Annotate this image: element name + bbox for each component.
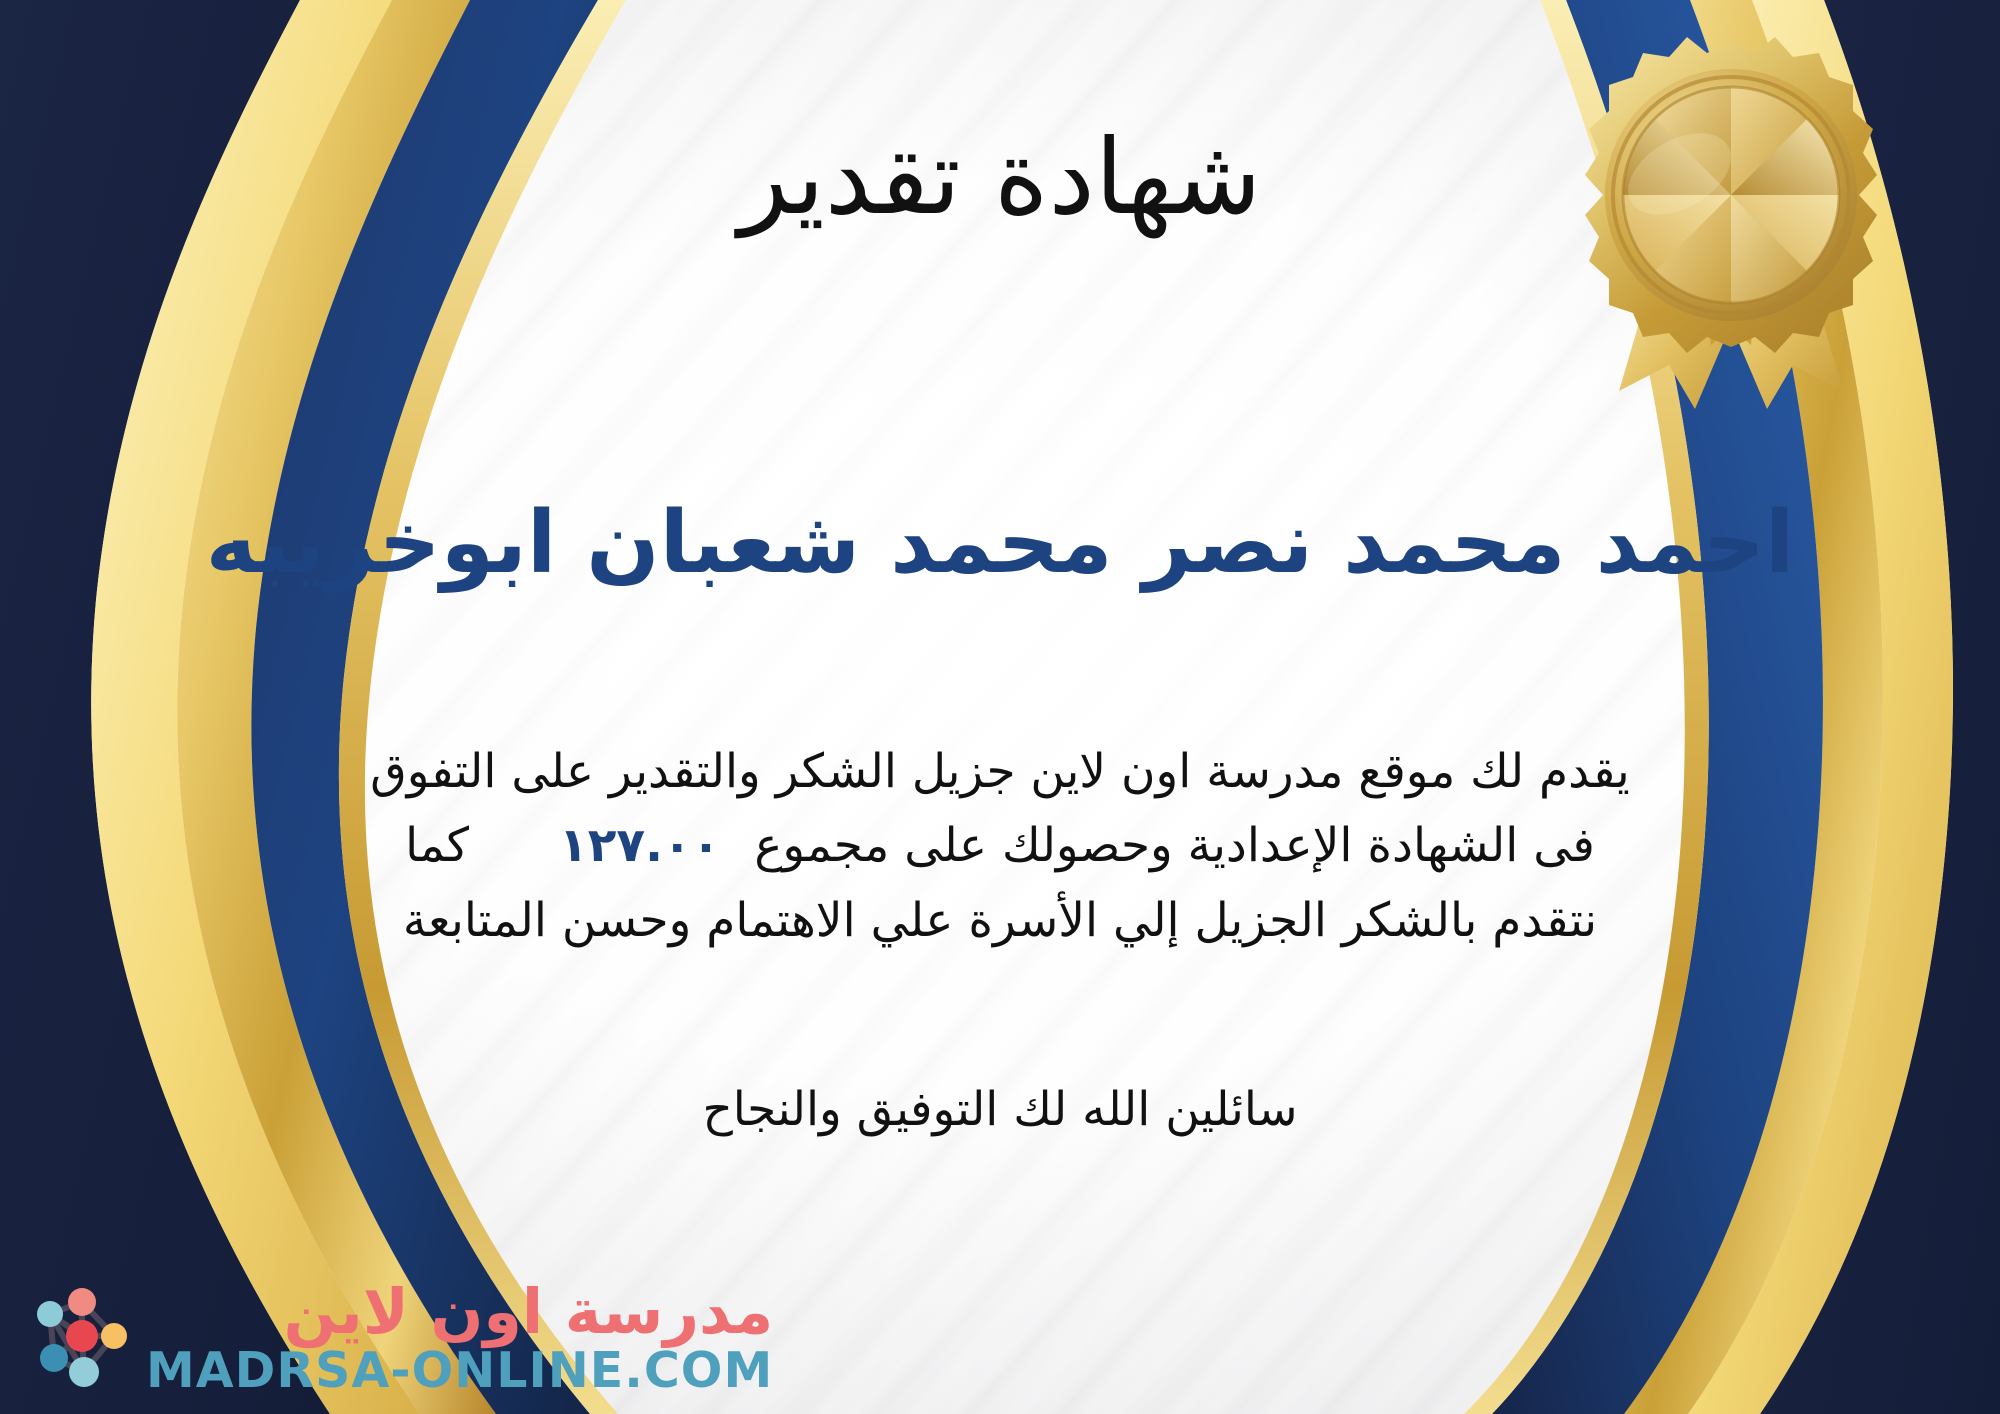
brand-name-arabic: مدرسة اون لاين — [284, 1279, 774, 1344]
body-line-2: فى الشهادة الإعدادية وحصولك على مجموع١٢٧… — [60, 809, 1940, 883]
brand-website: MADRSA-ONLINE.COM — [146, 1345, 773, 1396]
recipient-name: احمد محمد نصر محمد شعبان ابوخريبه — [0, 490, 2000, 598]
body-line-1: يقدم لك موقع مدرسة اون لاين جزيل الشكر و… — [60, 735, 1940, 809]
total-score-value: ١٢٧.٠٠ — [525, 818, 754, 873]
body-line-2-suffix: كما — [405, 818, 469, 873]
certificate-title: شهادة تقدير — [0, 118, 2000, 238]
body-line-2-prefix: فى الشهادة الإعدادية وحصولك على مجموع — [754, 818, 1595, 873]
brand-logo-text: مدرسة اون لاين MADRSA-ONLINE.COM — [146, 1279, 773, 1396]
network-nodes-icon — [26, 1280, 136, 1396]
body-line-3: نتقدم بالشكر الجزيل إلي الأسرة علي الاهت… — [60, 884, 1940, 958]
certificate-content: شهادة تقدير احمد محمد نصر محمد شعبان ابو… — [0, 0, 2000, 1414]
brand-logo[interactable]: مدرسة اون لاين MADRSA-ONLINE.COM — [22, 1279, 773, 1396]
closing-wish: سائلين الله لك التوفيق والنجاح — [0, 1082, 2000, 1137]
certificate: شهادة تقدير احمد محمد نصر محمد شعبان ابو… — [0, 0, 2000, 1414]
certificate-body: يقدم لك موقع مدرسة اون لاين جزيل الشكر و… — [60, 735, 1940, 958]
